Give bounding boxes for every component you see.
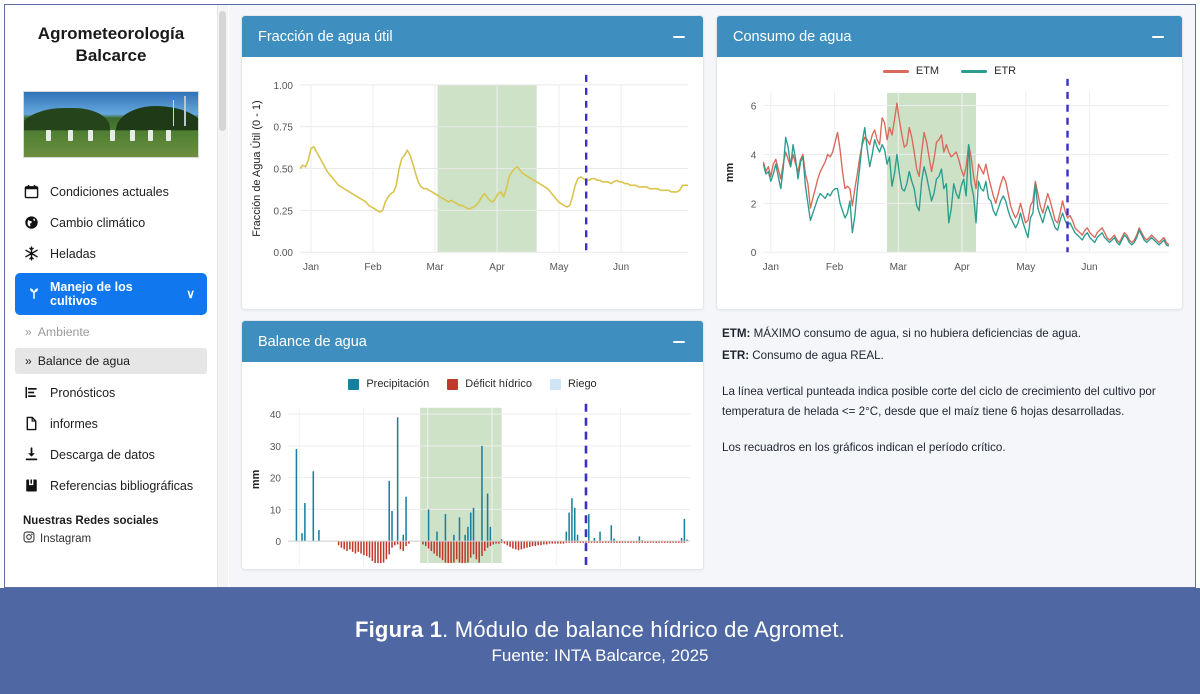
notes-spacer	[722, 368, 1177, 382]
panel-header: Consumo de agua	[717, 16, 1182, 57]
minimize-icon[interactable]	[671, 334, 687, 350]
sidebar-item-descarga-de-datos[interactable]: Descarga de datos	[5, 439, 217, 470]
panel-title: Balance de agua	[258, 334, 367, 350]
screenshot-root: Agrometeorología Balcarce	[0, 0, 1200, 694]
instrument-post	[68, 130, 73, 141]
svg-text:Feb: Feb	[364, 262, 382, 273]
sidebar-item-label: Referencias bibliográficas	[50, 479, 193, 493]
notes-spacer	[722, 424, 1177, 438]
main-content: Fracción de agua útil 0.000.250.500.751.…	[229, 5, 1195, 587]
sidebar-item-label: Descarga de datos	[50, 448, 155, 462]
download-icon	[23, 446, 40, 463]
note-etm: ETM: MÁXIMO consumo de agua, si no hubie…	[722, 324, 1177, 344]
dashboard-grid: Fracción de agua útil 0.000.250.500.751.…	[241, 15, 1183, 570]
caption-source: Fuente: INTA Balcarce, 2025	[491, 646, 708, 666]
svg-text:Fracción de Agua Útil (0 - 1): Fracción de Agua Útil (0 - 1)	[250, 100, 263, 236]
sidebar-item-informes[interactable]: informes	[5, 408, 217, 439]
sidebar-item-label: informes	[50, 417, 98, 431]
svg-text:May: May	[550, 262, 569, 273]
globe-icon	[23, 214, 40, 231]
note-etr-text: Consumo de agua REAL.	[749, 349, 884, 362]
sidebar-item-label: Pronósticos	[50, 386, 115, 400]
sidebar-item-label: Manejo de los cultivos	[50, 280, 177, 308]
sprout-icon	[27, 286, 41, 303]
panel-title: Consumo de agua	[733, 29, 852, 45]
sidebar-item-label: Heladas	[50, 247, 96, 261]
svg-text:30: 30	[270, 442, 282, 453]
panel-consumo-de-agua: Consumo de agua ETM ETR	[716, 15, 1183, 310]
book-icon	[23, 477, 40, 494]
svg-text:20: 20	[270, 474, 282, 485]
station-photo	[23, 91, 199, 158]
instrument-post	[166, 130, 171, 141]
chart-consumo-de-agua[interactable]: 0246JanFebMarAprMayJunmm	[717, 57, 1182, 309]
panel-title: Fracción de agua útil	[258, 29, 393, 45]
instrument-post	[130, 130, 135, 141]
svg-text:mm: mm	[724, 163, 736, 183]
panel-body: Precipitación Déficit hídrico Riego	[242, 362, 703, 569]
social-section: Nuestras Redes sociales Instagram	[23, 515, 217, 546]
instrument-post	[110, 130, 115, 141]
svg-text:0.25: 0.25	[274, 206, 294, 217]
chart-fraccion-de-agua-util[interactable]: 0.000.250.500.751.00JanFebMarAprMayJunFr…	[242, 57, 703, 309]
note-etm-text: MÁXIMO consumo de agua, si no hubiera de…	[750, 327, 1081, 340]
svg-text:4: 4	[751, 150, 757, 161]
document-icon	[23, 415, 40, 432]
svg-text:2: 2	[751, 199, 757, 210]
note-paragraph-2: Los recuadros en los gráficos indican el…	[722, 438, 1177, 458]
sidebar-subitem-ambiente[interactable]: » Ambiente	[15, 319, 207, 345]
svg-text:mm: mm	[250, 469, 262, 489]
svg-text:Apr: Apr	[954, 262, 970, 273]
bar-chart-icon	[23, 384, 40, 401]
app-window: Agrometeorología Balcarce	[4, 4, 1196, 588]
note-paragraph-1: La línea vertical punteada indica posibl…	[722, 382, 1177, 422]
sidebar-item-manejo-de-los-cultivos[interactable]: Manejo de los cultivos ∨	[15, 273, 207, 315]
minimize-icon[interactable]	[671, 29, 687, 45]
instagram-icon	[23, 531, 35, 546]
svg-text:May: May	[1016, 262, 1035, 273]
sidebar-item-pronosticos[interactable]: Pronósticos	[5, 377, 217, 408]
svg-text:Mar: Mar	[890, 262, 908, 273]
svg-text:Feb: Feb	[826, 262, 844, 273]
sidebar-item-cambio-climatico[interactable]: Cambio climático	[5, 207, 217, 238]
tree-left-shape	[23, 108, 110, 130]
social-link-instagram[interactable]: Instagram	[23, 531, 217, 546]
svg-text:0.00: 0.00	[274, 248, 294, 259]
sidebar-item-label: Cambio climático	[50, 216, 145, 230]
caption-line-1: Figura 1. Módulo de balance hídrico de A…	[355, 617, 845, 643]
panel-header: Fracción de agua útil	[242, 16, 703, 57]
panel-body: ETM ETR 0246JanFebMarAprMayJunmm	[717, 57, 1182, 309]
tree-right-shape	[116, 106, 199, 130]
svg-text:Jan: Jan	[303, 262, 319, 273]
sidebar-subitem-label: Ambiente	[38, 325, 90, 339]
notes-panel: ETM: MÁXIMO consumo de agua, si no hubie…	[716, 320, 1183, 570]
social-heading: Nuestras Redes sociales	[23, 515, 217, 527]
svg-text:6: 6	[751, 102, 757, 113]
sidebar-item-heladas[interactable]: Heladas	[5, 238, 217, 269]
svg-text:1.00: 1.00	[274, 81, 294, 92]
svg-text:0: 0	[751, 248, 757, 259]
chevron-double-right-icon: »	[25, 325, 30, 339]
note-etm-label: ETM:	[722, 327, 750, 340]
svg-text:0.50: 0.50	[274, 165, 294, 176]
app-brand: Agrometeorología Balcarce	[5, 5, 217, 71]
svg-text:Apr: Apr	[489, 262, 505, 273]
note-etr-label: ETR:	[722, 349, 749, 362]
sidebar-item-label: Condiciones actuales	[50, 185, 169, 199]
caption-figure-number: Figura 1	[355, 617, 442, 642]
svg-text:0: 0	[275, 537, 281, 548]
sidebar-item-condiciones-actuales[interactable]: Condiciones actuales	[5, 176, 217, 207]
panel-body: 0.000.250.500.751.00JanFebMarAprMayJunFr…	[242, 57, 703, 309]
sidebar: Agrometeorología Balcarce	[5, 5, 217, 588]
social-link-label: Instagram	[40, 533, 91, 545]
mast-shape	[184, 96, 186, 126]
sidebar-scrollbar-thumb[interactable]	[219, 11, 226, 131]
svg-text:Mar: Mar	[426, 262, 444, 273]
chart-balance-de-agua[interactable]: 010203040mm	[242, 362, 703, 569]
sidebar-item-referencias-bibliograficas[interactable]: Referencias bibliográficas	[5, 470, 217, 501]
calendar-icon	[23, 183, 40, 200]
instrument-post	[88, 130, 93, 141]
figure-caption: Figura 1. Módulo de balance hídrico de A…	[0, 588, 1200, 694]
svg-text:Jun: Jun	[613, 262, 629, 273]
minimize-icon[interactable]	[1150, 29, 1166, 45]
sidebar-subitem-label: Balance de agua	[38, 354, 130, 368]
brand-line-1: Agrometeorología	[23, 23, 199, 45]
svg-text:10: 10	[270, 505, 282, 516]
sidebar-subitem-balance-de-agua[interactable]: » Balance de agua	[15, 348, 207, 374]
brand-line-2: Balcarce	[23, 45, 199, 67]
svg-text:Jun: Jun	[1081, 262, 1097, 273]
panel-balance-de-agua: Balance de agua Precipitación Déficit hí…	[241, 320, 704, 570]
chevron-double-right-icon: »	[25, 354, 30, 368]
panel-fraccion-de-agua-util: Fracción de agua útil 0.000.250.500.751.…	[241, 15, 704, 310]
panel-header: Balance de agua	[242, 321, 703, 362]
svg-text:40: 40	[270, 410, 282, 421]
svg-text:Jan: Jan	[763, 262, 779, 273]
sidebar-nav: Condiciones actuales Cambio climático He…	[5, 176, 217, 501]
chevron-down-icon: ∨	[186, 287, 195, 301]
instrument-post	[148, 130, 153, 141]
note-etr: ETR: Consumo de agua REAL.	[722, 346, 1177, 366]
caption-title: . Módulo de balance hídrico de Agromet.	[442, 617, 845, 642]
svg-text:0.75: 0.75	[274, 123, 294, 134]
snowflake-icon	[23, 245, 40, 262]
instrument-post	[46, 130, 51, 141]
mast-shape-2	[173, 100, 174, 126]
